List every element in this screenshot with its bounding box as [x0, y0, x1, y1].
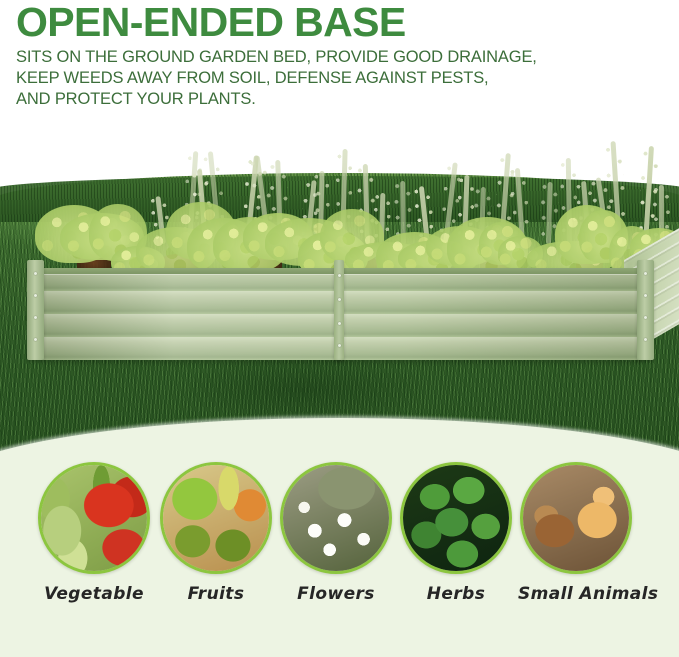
product-photo-scene: [0, 118, 679, 458]
bed-screw: [34, 294, 37, 297]
herbs-photo-fill: [403, 465, 509, 571]
bed-screw: [644, 338, 647, 341]
subtitle-line-3: AND PROTECT YOUR PLANTS.: [16, 89, 666, 110]
badge-label: Fruits: [158, 584, 274, 604]
small-animals-photo: [520, 462, 632, 574]
header-text-block: OPEN-ENDED BASE SITS ON THE GROUND GARDE…: [16, 2, 666, 110]
plant-sprig: [546, 182, 553, 245]
small-animals-photo-fill: [523, 465, 629, 571]
use-case-badge-small-animals[interactable]: Small Animals: [518, 462, 634, 604]
planted-foliage: [36, 122, 648, 282]
bed-screw: [644, 272, 647, 275]
raised-garden-bed: [42, 268, 642, 363]
bed-screw: [338, 322, 341, 325]
page-subtitle: SITS ON THE GROUND GARDEN BED, PROVIDE G…: [16, 47, 666, 110]
flowers-photo: [280, 462, 392, 574]
fruits-photo: [160, 462, 272, 574]
product-feature-poster: OPEN-ENDED BASE SITS ON THE GROUND GARDE…: [0, 0, 679, 657]
bed-screw: [34, 338, 37, 341]
bed-seam-post-middle: [334, 260, 344, 360]
flowers-photo-fill: [283, 465, 389, 571]
use-case-badge-row: VegetableFruitsFlowersHerbsSmall Animals: [0, 462, 679, 622]
badge-label: Flowers: [278, 584, 394, 604]
badge-label: Small Animals: [518, 584, 634, 604]
vegetable-photo: [38, 462, 150, 574]
subtitle-line-2: KEEP WEEDS AWAY FROM SOIL, DEFENSE AGAIN…: [16, 68, 666, 89]
bed-corner-post-right: [637, 260, 654, 360]
subtitle-line-1: SITS ON THE GROUND GARDEN BED, PROVIDE G…: [16, 47, 666, 68]
bed-screw: [338, 344, 341, 347]
use-case-badge-fruits[interactable]: Fruits: [158, 462, 274, 604]
bed-corner-post-left: [27, 260, 44, 360]
use-case-badge-vegetable[interactable]: Vegetable: [36, 462, 152, 604]
use-case-badge-flowers[interactable]: Flowers: [278, 462, 394, 604]
bed-screw: [644, 294, 647, 297]
use-case-badge-herbs[interactable]: Herbs: [398, 462, 514, 604]
bed-screw: [34, 316, 37, 319]
herbs-photo: [400, 462, 512, 574]
page-title: OPEN-ENDED BASE: [16, 2, 666, 42]
bed-screw: [338, 298, 341, 301]
fruits-photo-fill: [163, 465, 269, 571]
bed-screw: [338, 274, 341, 277]
bed-screw: [34, 272, 37, 275]
badge-label: Vegetable: [36, 584, 152, 604]
vegetable-photo-fill: [41, 465, 147, 571]
bed-screw: [644, 316, 647, 319]
badge-label: Herbs: [398, 584, 514, 604]
